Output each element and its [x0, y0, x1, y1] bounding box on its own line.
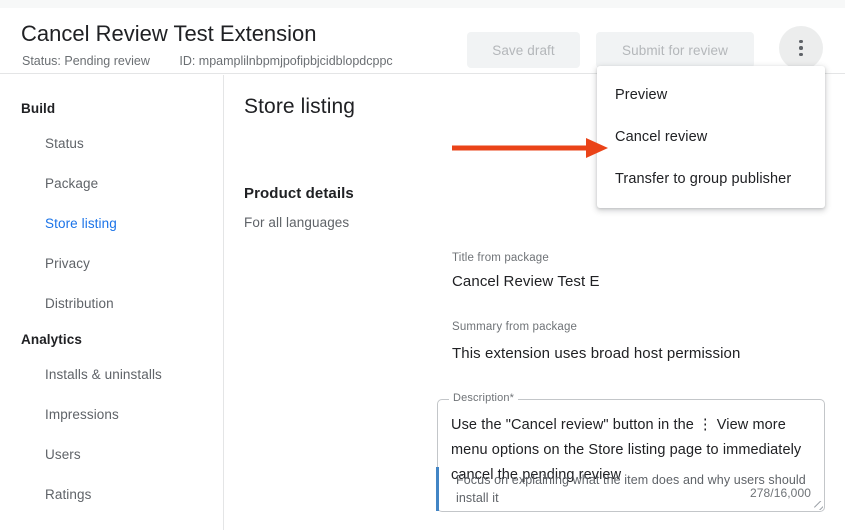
submit-for-review-button[interactable]: Submit for review — [596, 32, 754, 68]
description-label: Description* — [449, 392, 518, 404]
menu-item-transfer-to-group-publisher[interactable]: Transfer to group publisher — [597, 158, 825, 200]
summary-from-package-label: Summary from package — [452, 321, 577, 333]
menu-item-cancel-review[interactable]: Cancel review — [597, 116, 825, 158]
sidebar-item-status[interactable]: Status — [0, 124, 223, 164]
sidebar-section-build: Build — [0, 93, 223, 124]
save-draft-button[interactable]: Save draft — [467, 32, 580, 68]
kebab-dot-3 — [799, 53, 803, 57]
more-options-menu: PreviewCancel reviewTransfer to group pu… — [597, 66, 825, 208]
page-header: Cancel Review Test Extension Status: Pen… — [0, 8, 845, 74]
description-hint: Focus on explaining what the item does a… — [436, 467, 826, 511]
sidebar-item-package[interactable]: Package — [0, 164, 223, 204]
sidebar-section-analytics: Analytics — [0, 324, 223, 355]
title-from-package-value: Cancel Review Test E — [452, 273, 600, 290]
sidebar-item-impressions[interactable]: Impressions — [0, 395, 223, 435]
product-details-subtitle: For all languages — [244, 215, 349, 230]
sidebar-item-installs-uninstalls[interactable]: Installs & uninstalls — [0, 355, 223, 395]
extension-title: Cancel Review Test Extension — [21, 20, 317, 48]
page-title: Store listing — [244, 95, 355, 119]
description-hint-text: Focus on explaining what the item does a… — [456, 471, 826, 507]
kebab-dot-2 — [799, 46, 803, 50]
left-sidebar-nav: BuildStatusPackageStore listingPrivacyDi… — [0, 75, 224, 530]
menu-item-preview[interactable]: Preview — [597, 74, 825, 116]
sidebar-item-ratings[interactable]: Ratings — [0, 475, 223, 515]
extension-meta: Status: Pending review ID: mpamplilnbpmj… — [22, 53, 393, 69]
sidebar-item-privacy[interactable]: Privacy — [0, 244, 223, 284]
sidebar-item-store-listing[interactable]: Store listing — [0, 204, 223, 244]
status-text: Status: Pending review — [22, 53, 150, 69]
summary-from-package-value: This extension uses broad host permissio… — [452, 345, 740, 362]
title-from-package-label: Title from package — [452, 252, 549, 264]
product-details-heading: Product details — [244, 185, 354, 202]
extension-id-text: ID: mpamplilnbpmjpofipbjcidblopdcppc — [179, 53, 392, 69]
kebab-dot-1 — [799, 40, 803, 44]
more-vert-icon[interactable] — [779, 26, 823, 70]
sidebar-item-users[interactable]: Users — [0, 435, 223, 475]
sidebar-item-distribution[interactable]: Distribution — [0, 284, 223, 324]
extension-dashboard-page: Cancel Review Test Extension Status: Pen… — [0, 0, 845, 530]
window-top-strip — [0, 0, 845, 8]
